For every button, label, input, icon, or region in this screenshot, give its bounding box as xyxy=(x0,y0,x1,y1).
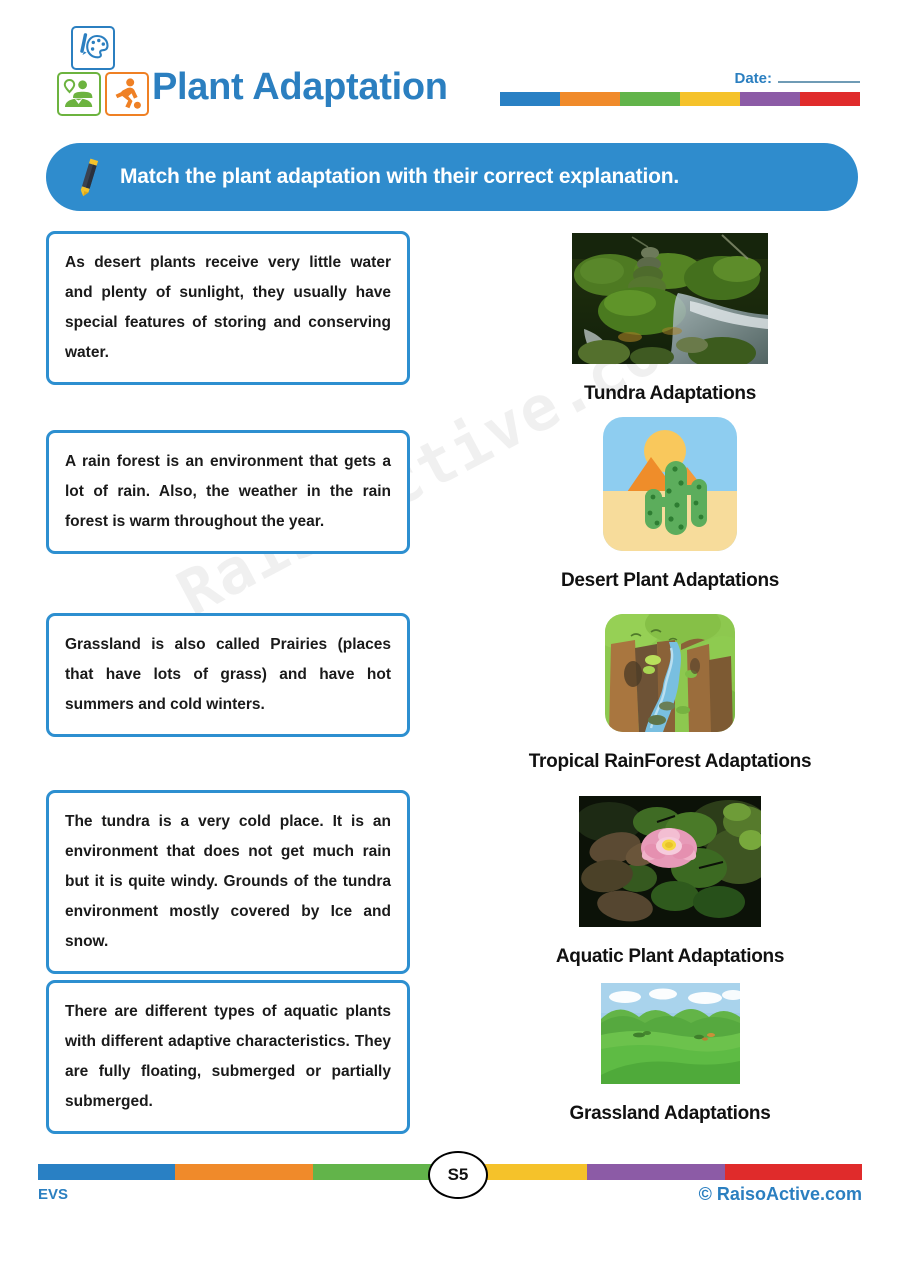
desert-cactus-illustration xyxy=(603,417,737,556)
statement-box[interactable]: As desert plants receive very little wat… xyxy=(46,231,410,385)
picture-item[interactable]: Grassland Adaptations xyxy=(460,983,880,1125)
picture-caption: Desert Plant Adaptations xyxy=(460,570,880,592)
date-field[interactable]: Date: xyxy=(734,70,860,87)
picture-caption: Tropical RainForest Adaptations xyxy=(460,751,880,773)
sports-icon xyxy=(105,72,149,116)
statement-box[interactable]: A rain forest is an environment that get… xyxy=(46,430,410,554)
color-segment-green xyxy=(620,92,680,106)
instruction-banner: Match the plant adaptation with their co… xyxy=(46,143,858,211)
color-segment-red xyxy=(800,92,860,106)
statement-box[interactable]: The tundra is a very cold place. It is a… xyxy=(46,790,410,974)
date-input-line[interactable] xyxy=(778,81,860,83)
teacher-icon xyxy=(57,72,101,116)
mossy-rocks-stream-photo xyxy=(572,233,768,369)
picture-caption: Tundra Adaptations xyxy=(460,383,880,405)
color-segment-purple xyxy=(740,92,800,106)
page-footer xyxy=(0,1150,900,1240)
picture-item[interactable]: Aquatic Plant Adaptations xyxy=(460,796,880,968)
green-hills-illustration xyxy=(601,983,740,1089)
color-segment-orange xyxy=(560,92,620,106)
color-segment-blue xyxy=(500,92,560,106)
rainforest-stream-illustration xyxy=(605,614,735,737)
statement-box[interactable]: Grassland is also called Prairies (place… xyxy=(46,613,410,737)
page-header: Plant Adaptation Date: xyxy=(0,0,900,130)
water-lily-photo xyxy=(579,796,761,932)
picture-item[interactable]: Tropical RainForest Adaptations xyxy=(460,614,880,773)
art-palette-icon xyxy=(71,26,115,70)
page-title: Plant Adaptation xyxy=(152,66,448,109)
instruction-text: Match the plant adaptation with their co… xyxy=(120,165,679,189)
picture-item[interactable]: Desert Plant Adaptations xyxy=(460,417,880,592)
picture-item[interactable]: Tundra Adaptations xyxy=(460,233,880,405)
date-label: Date: xyxy=(734,70,772,87)
color-segment-yellow xyxy=(680,92,740,106)
picture-caption: Grassland Adaptations xyxy=(460,1103,880,1125)
picture-caption: Aquatic Plant Adaptations xyxy=(460,946,880,968)
statement-box[interactable]: There are different types of aquatic pla… xyxy=(46,980,410,1134)
pencil-icon xyxy=(72,155,106,199)
header-color-bar xyxy=(500,92,860,106)
